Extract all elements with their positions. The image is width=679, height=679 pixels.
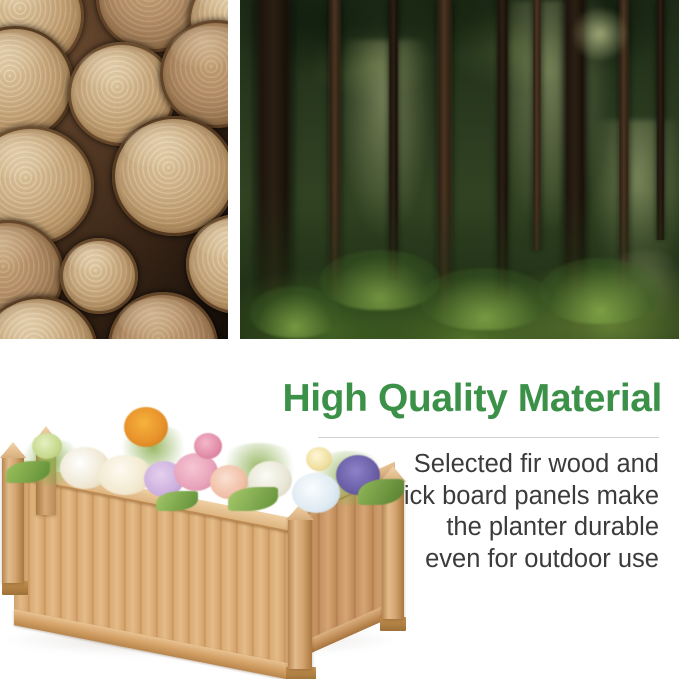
product-feature-card: High Quality Material Selected fir wood … xyxy=(0,0,679,679)
post-cap xyxy=(0,442,26,458)
pink-rose xyxy=(174,453,218,491)
wooden-raised-garden-planter-box xyxy=(0,417,412,679)
green-foliage xyxy=(216,443,302,493)
fern xyxy=(250,286,340,338)
photo-strip xyxy=(0,0,679,339)
fern xyxy=(420,268,550,330)
planter-foot xyxy=(2,581,28,595)
green-foliage xyxy=(114,425,192,469)
white-hydrangea xyxy=(248,461,292,499)
planter-corner-post xyxy=(288,517,312,669)
feature-headline: High Quality Material xyxy=(266,377,662,421)
fern xyxy=(540,258,660,324)
stacked-cut-logs-photo xyxy=(0,0,228,339)
peach-bloom xyxy=(210,465,248,499)
log-round xyxy=(60,238,138,314)
orange-sunflower xyxy=(124,407,168,447)
planter-corner-post xyxy=(2,455,24,583)
post-cap xyxy=(34,426,58,442)
planter-corner-post xyxy=(36,439,56,515)
log-round xyxy=(112,116,228,236)
sunlight-patch xyxy=(570,8,630,60)
yellow-daisy xyxy=(306,447,332,471)
planter-corner-post xyxy=(382,479,404,619)
feature-description-section: High Quality Material Selected fir wood … xyxy=(0,339,679,679)
conifer-forest-photo xyxy=(240,0,679,339)
pink-rose xyxy=(194,433,222,459)
planter-foot xyxy=(380,617,406,631)
